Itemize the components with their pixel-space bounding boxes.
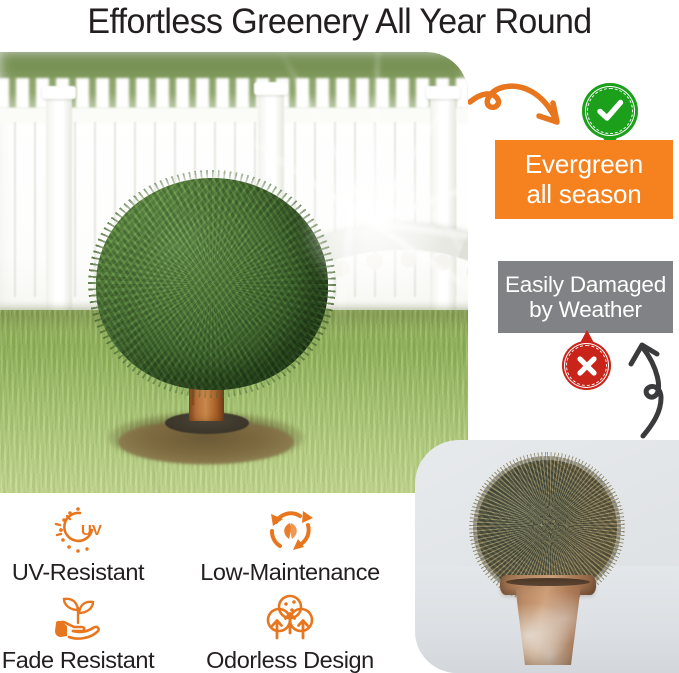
hand-holding-plant-icon — [0, 590, 178, 646]
feature-label: UV-Resistant — [0, 559, 178, 586]
feature-low-maintenance: Low-Maintenance — [190, 502, 390, 586]
evergreen-badge-label: Evergreen all season — [525, 150, 643, 208]
evergreen-badge: Evergreen all season — [495, 140, 673, 219]
page-title: Effortless Greenery All Year Round — [10, 0, 669, 46]
curved-arrow-down-right-icon — [468, 78, 574, 144]
weather-damage-badge-line1: Easily Damaged — [505, 272, 666, 297]
uv-sun-icon: UV — [0, 502, 178, 558]
feature-fade-resistant: Fade Resistant — [0, 590, 178, 673]
photo-fence-post — [46, 96, 72, 332]
weather-damage-badge-label: Easily Damaged by Weather — [505, 272, 666, 322]
feature-label: Low-Maintenance — [190, 559, 390, 586]
cross-circle-icon — [562, 341, 611, 390]
feature-odorless-design: Odorless Design — [190, 590, 390, 673]
hero-product-photo — [0, 52, 468, 493]
svg-text:UV: UV — [81, 522, 102, 539]
weather-damage-badge: Easily Damaged by Weather — [498, 261, 673, 333]
feature-label: Fade Resistant — [0, 647, 178, 673]
weather-damage-badge-line2: by Weather — [529, 297, 642, 322]
curved-arrow-up-icon — [617, 336, 677, 440]
feature-list: UV UV-Resistant — [0, 498, 415, 673]
check-circle-icon — [582, 83, 638, 139]
evergreen-badge-line1: Evergreen — [525, 149, 643, 179]
recycle-leaf-icon — [190, 502, 390, 558]
product-feature-image: Effortless Greenery All Year Round — [0, 0, 679, 673]
evergreen-badge-line2: all season — [526, 179, 641, 209]
odorless-air-cloud-icon — [190, 590, 390, 646]
feature-label: Odorless Design — [190, 647, 390, 673]
withered-plant-photo — [415, 440, 679, 673]
feature-uv-resistant: UV UV-Resistant — [0, 502, 178, 586]
